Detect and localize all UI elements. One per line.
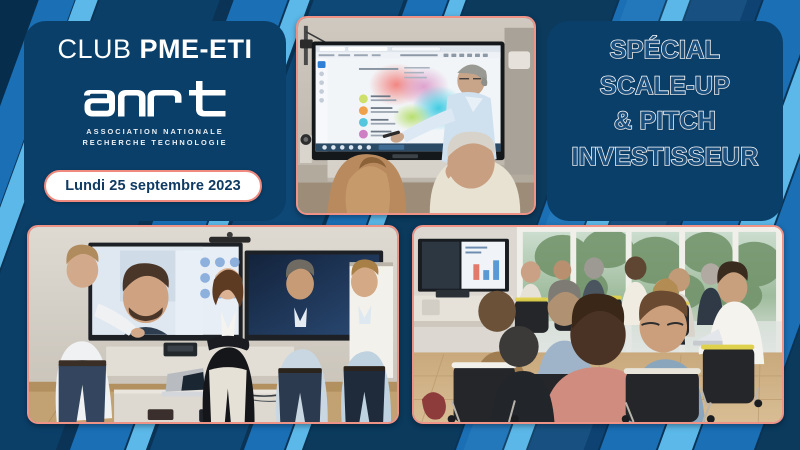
date-badge: Lundi 25 septembre 2023	[44, 170, 262, 202]
photo-presentation-whiteboard	[296, 16, 536, 215]
page-title: CLUB PME-ETI	[24, 36, 286, 63]
anrt-logo-subtitle: ASSOCIATION NATIONALE RECHERCHE TECHNOLO…	[24, 127, 286, 148]
photo-panel-speakers	[27, 225, 399, 424]
headline-line-3: & PITCH	[547, 104, 783, 140]
headline-line-1: SPÉCIAL	[547, 33, 783, 69]
anrt-subtitle-line-2: RECHERCHE TECHNOLOGIE	[24, 138, 286, 149]
anrt-logo: ASSOCIATION NATIONALE RECHERCHE TECHNOLO…	[24, 78, 286, 148]
poster-canvas: CLUB PME-ETI ASSOCIATION NATIONALE RECHE…	[0, 0, 800, 450]
anrt-subtitle-line-1: ASSOCIATION NATIONALE	[24, 127, 286, 138]
title-pmeeti-word: PME-ETI	[140, 34, 253, 64]
title-club-word: CLUB	[57, 34, 139, 64]
headline-line-4: INVESTISSEUR	[547, 140, 783, 176]
anrt-logo-mark	[84, 78, 226, 122]
photo-audience	[412, 225, 784, 424]
event-headline: SPÉCIAL SCALE-UP & PITCH INVESTISSEUR	[547, 33, 783, 175]
headline-line-2: SCALE-UP	[547, 69, 783, 105]
